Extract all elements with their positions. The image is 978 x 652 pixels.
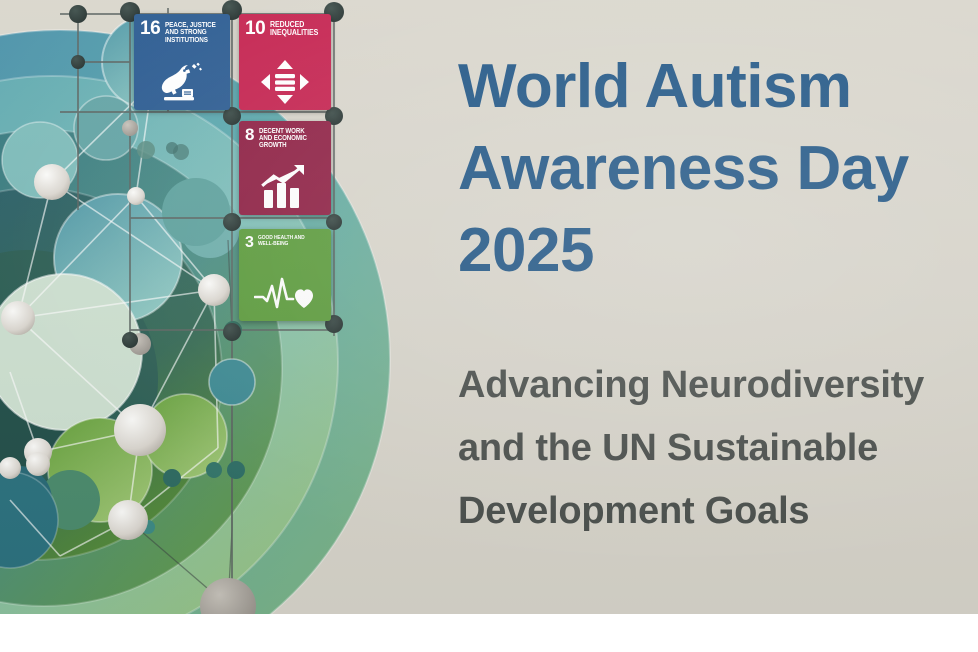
- headline-line-1: World Autism: [458, 46, 978, 128]
- subtitle-line-1: Advancing Neurodiversity: [458, 354, 978, 417]
- sdg-tile-10[interactable]: 10 Reduced Inequalities: [239, 14, 331, 110]
- sdg-3-number: 3: [245, 236, 253, 250]
- headline-line-2: Awareness Day: [458, 128, 978, 210]
- poster-text-column: World Autism Awareness Day 2025 Advancin…: [458, 0, 978, 614]
- sdg-tile-16[interactable]: 16 Peace, Justice and Strong Institution…: [134, 14, 230, 110]
- sdg-10-number: 10: [245, 21, 265, 37]
- sdg-16-number: 16: [140, 21, 160, 37]
- dove-gavel-icon: [134, 60, 230, 106]
- sdg-tile-8[interactable]: 8 Decent Work and Economic Growth: [239, 121, 331, 215]
- subtitle-line-2: and the UN Sustainable: [458, 417, 978, 480]
- sdg-8-number: 8: [245, 128, 254, 142]
- sdg-8-title: Decent Work and Economic Growth: [259, 128, 317, 149]
- page-title: World Autism Awareness Day 2025: [458, 46, 978, 291]
- growth-bar-chart-icon: [239, 163, 331, 211]
- equals-arrows-icon: [239, 58, 331, 106]
- sdg-tile-3[interactable]: 3 Good Health and Well-Being: [239, 229, 331, 321]
- sdg-16-title: Peace, Justice and Strong Institutions: [165, 21, 217, 43]
- heartbeat-heart-icon: [239, 273, 331, 315]
- headline-line-3: 2025: [458, 210, 978, 292]
- page-subtitle: Advancing Neurodiversity and the UN Sust…: [458, 354, 978, 543]
- subtitle-line-3: Development Goals: [458, 480, 978, 543]
- poster-canvas: 16 Peace, Justice and Strong Institution…: [0, 0, 978, 614]
- sdg-10-title: Reduced Inequalities: [270, 21, 318, 37]
- sdg-3-title: Good Health and Well-Being: [258, 236, 317, 247]
